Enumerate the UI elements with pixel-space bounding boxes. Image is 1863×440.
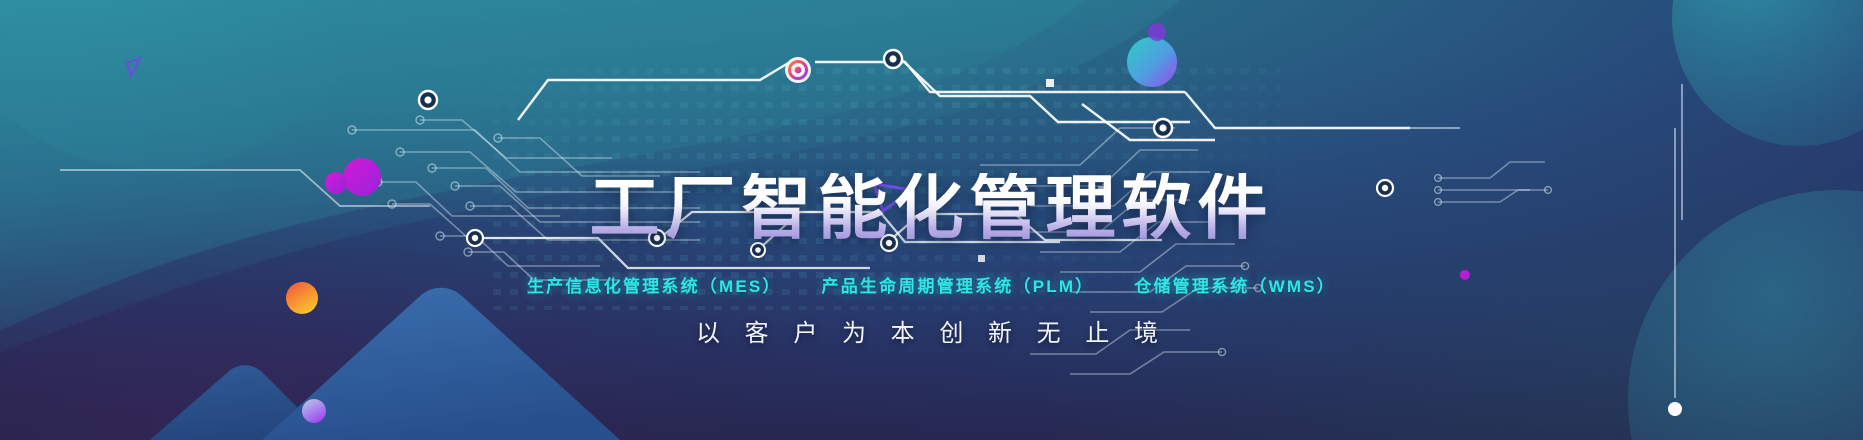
subtitle-item-plm: 产品生命周期管理系统（PLM） xyxy=(822,277,1095,296)
subtitle-item-mes: 生产信息化管理系统（MES） xyxy=(527,277,782,296)
subtitle-item-wms: 仓储管理系统（WMS） xyxy=(1134,277,1336,296)
page-title: 工厂智能化管理软件 xyxy=(0,173,1863,243)
subtitle-list: 生产信息化管理系统（MES） 产品生命周期管理系统（PLM） 仓储管理系统（WM… xyxy=(0,272,1863,297)
tagline: 以 客 户 为 本 创 新 无 止 境 xyxy=(0,313,1863,348)
hero-banner: 工厂智能化管理软件 生产信息化管理系统（MES） 产品生命周期管理系统（PLM）… xyxy=(0,0,1863,440)
